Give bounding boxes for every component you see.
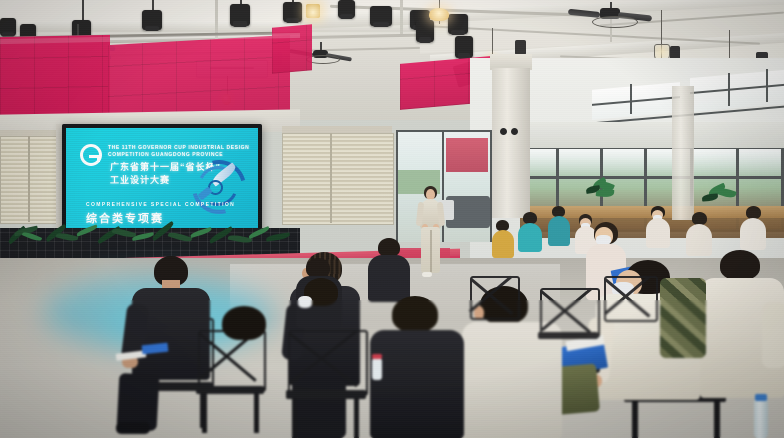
face-mask [298,296,312,308]
red-stage-curtain [272,24,312,73]
pendant-bulb-light [434,0,444,24]
black-webbed-chair [538,288,600,364]
stage-light [142,10,162,30]
window-glare [520,146,784,176]
led-screen: THE 11TH GOVERNOR CUP INDUSTRIAL DESIGN … [62,124,262,234]
water-bottle [754,398,768,438]
audience-member [492,220,514,258]
presenter [412,186,448,282]
audience-member [370,296,466,438]
roller-shade [520,122,784,148]
led-subtitle-en: COMPREHENSIVE SPECIAL COMPETITION [86,202,235,208]
exterior-red-building [446,138,488,172]
stage-light [283,2,302,22]
audience-arm [762,302,784,368]
venetian-blinds [282,133,394,225]
blinds-cord [28,136,30,222]
wall-speaker [515,40,526,55]
column-sensor-icon [500,128,507,135]
audience-torso [370,330,464,438]
audience-member [548,206,570,246]
audience-member [518,212,542,252]
stage-light [455,36,473,58]
led-headline-en-line1: THE 11TH GOVERNOR CUP INDUSTRIAL DESIGN [108,145,249,151]
cage-pendant-light [654,10,668,60]
water-bottle-cap [372,354,382,359]
audience-member [288,278,354,438]
stage-light [0,18,16,36]
audience-member [700,250,784,438]
stage-light [338,0,355,18]
stage-light [416,20,434,42]
ceiling-fan-dark-blades [572,2,652,38]
water-bottle [372,358,382,380]
conference-hall-photo: THE 11TH GOVERNOR CUP INDUSTRIAL DESIGN … [0,0,784,438]
stage-light [370,6,392,26]
column-sensor-icon [511,128,518,135]
audience-shoe [116,422,150,434]
led-headline-cn-line2: 工业设计大赛 [110,175,170,186]
warm-spot-light [306,4,320,18]
black-webbed-chair [602,276,658,344]
red-stage-curtain [0,35,110,119]
water-bottle-cap [755,394,767,401]
concrete-column [492,68,530,218]
g-cup-logo [80,144,102,166]
audience-member [646,206,670,248]
audience-member [660,278,706,358]
audience-member [740,206,766,250]
led-screen-content: THE 11TH GOVERNOR CUP INDUSTRIAL DESIGN … [66,128,258,230]
potted-plant [582,180,618,208]
stage-light [230,4,250,26]
presenter-shoe [422,272,432,277]
audience-hair [392,296,438,332]
stage-light [448,14,468,34]
presenter-arm [437,202,445,226]
concrete-column [672,86,694,220]
blinds-cord [330,133,332,223]
audience-member [368,238,410,302]
black-webbed-chair [468,276,520,340]
audience-member [196,306,292,438]
presenter-trouser-seam [430,230,432,272]
